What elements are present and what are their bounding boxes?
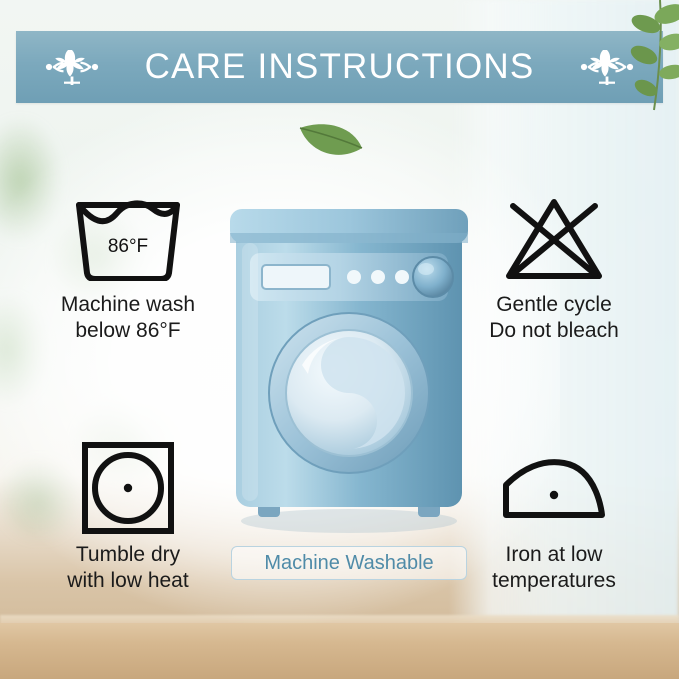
washing-machine-illustration: [228, 203, 470, 538]
do-not-bleach-glyph: [501, 194, 607, 282]
tumble-dry-glyph: [80, 440, 176, 536]
page-title: CARE INSTRUCTIONS: [145, 47, 535, 87]
fleur-de-lis-ornament-icon: [575, 46, 639, 88]
care-item-iron: Iron at low temperatures: [434, 440, 674, 594]
wash-tub-icon: 86°F: [8, 190, 248, 286]
header-banner: CARE INSTRUCTIONS: [16, 31, 663, 103]
do-not-bleach-triangle-icon: [434, 190, 674, 286]
iron-glyph: [498, 449, 610, 527]
care-item-do-not-bleach: Gentle cycle Do not bleach: [434, 190, 674, 344]
wash-temperature-label: 86°F: [8, 236, 248, 258]
care-item-machine-wash: 86°F Machine wash below 86°F: [8, 190, 248, 344]
iron-low-temperature-icon: [434, 440, 674, 536]
care-item-do-not-bleach-caption: Gentle cycle Do not bleach: [434, 292, 674, 344]
machine-washable-badge-label: Machine Washable: [264, 552, 433, 575]
care-item-tumble-dry: Tumble dry with low heat: [8, 440, 248, 594]
machine-washable-badge: Machine Washable: [231, 546, 467, 580]
fleur-de-lis-ornament-icon: [40, 46, 104, 88]
care-item-iron-caption: Iron at low temperatures: [434, 542, 674, 594]
care-instructions-infographic: CARE INSTRUCTIONS: [0, 0, 679, 679]
care-item-machine-wash-caption: Machine wash below 86°F: [8, 292, 248, 344]
care-item-tumble-dry-caption: Tumble dry with low heat: [8, 542, 248, 594]
tumble-dry-low-heat-icon: [8, 440, 248, 536]
